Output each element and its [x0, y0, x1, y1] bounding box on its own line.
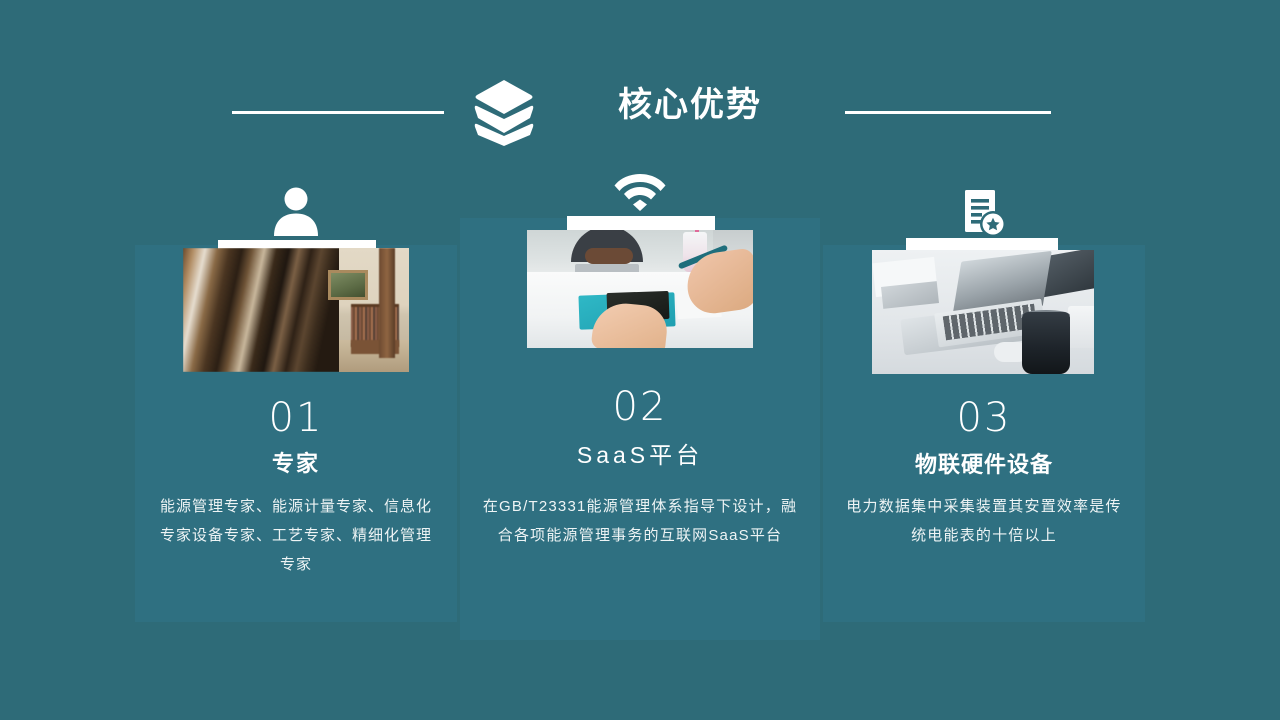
- card-1-description: 能源管理专家、能源计量专家、信息化专家设备专家、工艺专家、精细化管理专家: [155, 492, 437, 579]
- document-star-icon: [823, 178, 1145, 238]
- layers-icon: [471, 76, 537, 146]
- card-3-number: 03: [823, 396, 1145, 440]
- library-bookshelves-photo: [183, 248, 409, 372]
- divider-line-right-icon: [845, 111, 1051, 114]
- page-title: 核心优势: [560, 81, 820, 129]
- card-1-number: 01: [135, 396, 457, 440]
- card-3-subtitle: 物联硬件设备: [823, 450, 1145, 480]
- card-2-number: 02: [460, 385, 820, 429]
- desk-meeting-photo: [527, 230, 753, 348]
- wifi-icon: [460, 160, 820, 212]
- card-2-subtitle: SaaS平台: [460, 440, 820, 470]
- card-3-description: 电力数据集中采集装置其安置效率是传统电能表的十倍以上: [843, 492, 1125, 550]
- slide-header: 核心优势: [0, 34, 1280, 124]
- card-2-description: 在GB/T23331能源管理体系指导下设计，融合各项能源管理事务的互联网SaaS…: [482, 492, 798, 550]
- card-1-subtitle: 专家: [135, 449, 457, 479]
- laptop-desk-photo: [872, 250, 1094, 374]
- divider-line-left-icon: [232, 111, 444, 114]
- slide-root: 核心优势 01 专家 能源管理专家、能源计量专家、信息化专家设备专家、工艺专家、…: [0, 0, 1280, 720]
- user-icon: [135, 178, 457, 238]
